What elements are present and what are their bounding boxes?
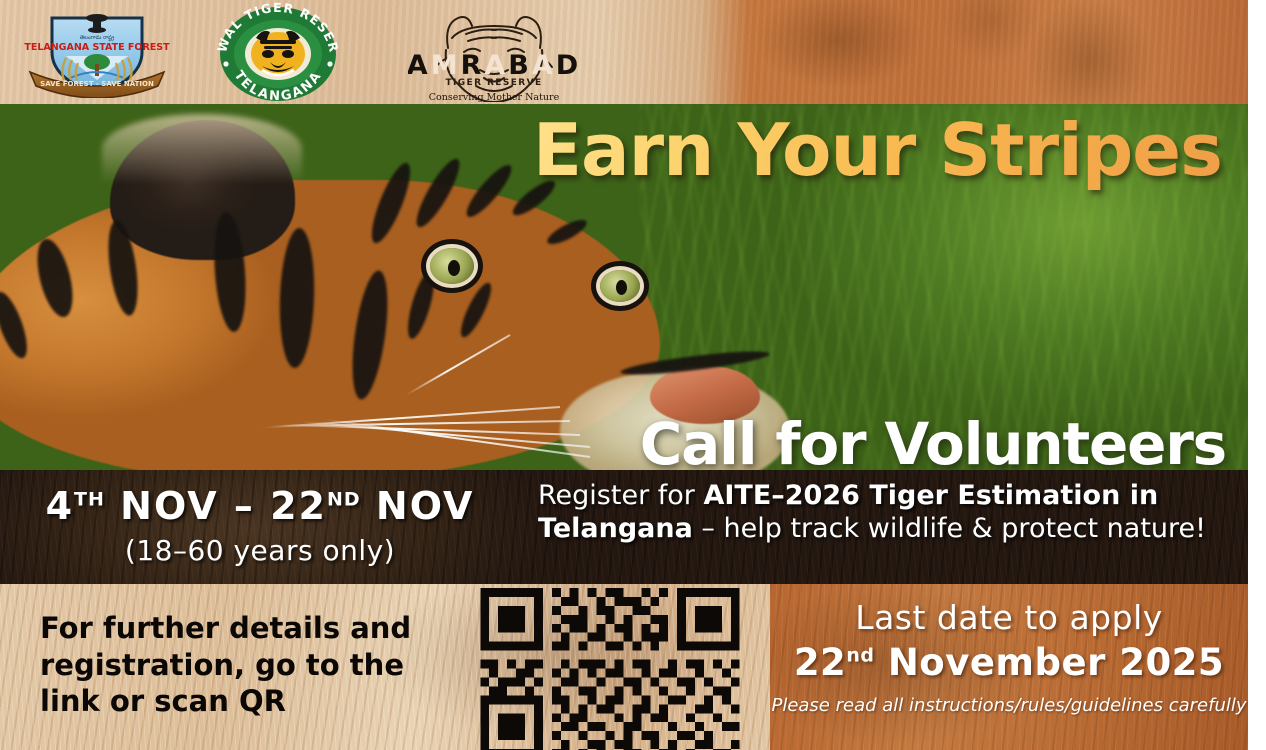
register-tail: – help track wildlife & protect nature! <box>693 513 1206 544</box>
poster: తెలంగామ రాష్ట్ర TELANGANA STATE FOREST <box>0 0 1248 750</box>
amrabad-wordmark: AMRABAD <box>408 50 580 81</box>
register-description: Register for AITE–2026 Tiger Estimation … <box>538 480 1238 546</box>
last-date-label: Last date to apply <box>770 598 1248 637</box>
last-date-block: Last date to apply 22nd November 2025 Pl… <box>770 598 1248 717</box>
page-title: Earn Your Stripes <box>533 108 1222 192</box>
tiger-photo-band: Earn Your Stripes Call for Volunteers <box>0 104 1248 470</box>
age-note: (18–60 years only) <box>0 534 520 567</box>
date-range: 4TH NOV – 22ND NOV <box>0 484 520 528</box>
right-white-margin <box>1248 0 1266 750</box>
last-date-value: 22nd November 2025 <box>770 641 1248 684</box>
tsf-ribbon-text: SAVE FOREST - SAVE NATION <box>40 80 154 88</box>
guidelines-note: Please read all instructions/rules/guide… <box>770 694 1248 717</box>
logo-strip: తెలంగామ రాష్ట్ర TELANGANA STATE FOREST <box>0 0 1248 104</box>
registration-qr-code[interactable] <box>476 588 744 750</box>
telangana-state-forest-logo: తెలంగామ రాష్ట్ర TELANGANA STATE FOREST <box>22 6 172 98</box>
tsf-title: TELANGANA STATE FOREST <box>24 42 170 53</box>
amrabad-tiger-reserve-logo: AMRABAD TIGER RESERVE Conserving Mother … <box>408 8 580 102</box>
date-range-block: 4TH NOV – 22ND NOV (18–60 years only) <box>0 484 520 567</box>
bottom-band: For further details and registration, go… <box>0 584 1248 750</box>
amrabad-tagline: Conserving Mother Nature <box>429 92 560 102</box>
page-subtitle: Call for Volunteers <box>640 410 1226 470</box>
register-lead: Register for <box>538 480 703 511</box>
amrabad-sub: TIGER RESERVE <box>445 78 542 88</box>
info-band: 4TH NOV – 22ND NOV (18–60 years only) Re… <box>0 470 1248 584</box>
kawal-tiger-reserve-logo: KAWAL TIGER RESERVE TELANGANA <box>212 2 344 102</box>
further-details-text: For further details and registration, go… <box>40 610 460 720</box>
logo-row: తెలంగామ రాష్ట్ర TELANGANA STATE FOREST <box>0 0 1248 104</box>
